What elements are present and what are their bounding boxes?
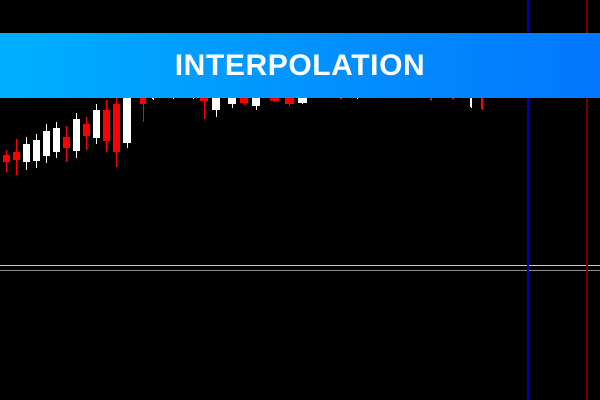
upper-separator [0,265,600,266]
interpolation-banner: INTERPOLATION [0,33,600,98]
candlestick-body [73,119,80,151]
candlestick-body [13,152,20,160]
candlestick-body [93,110,100,138]
candlestick-body [113,104,120,152]
candlestick-body [252,97,260,106]
candlestick-body [103,110,110,141]
screenshot-root: INTERPOLATION [0,0,600,400]
candlestick-body [228,97,236,104]
candlestick-body [43,131,50,156]
lower-separator [0,270,600,271]
candlestick-body [53,128,60,152]
candlestick-body [23,144,30,162]
candlestick-body [33,140,40,161]
candlestick-body [212,98,220,110]
banner-title: INTERPOLATION [175,51,426,81]
candlestick-body [63,137,70,148]
candlestick-body [3,155,10,162]
candlestick-body [123,96,131,143]
candlestick-body [83,124,90,136]
